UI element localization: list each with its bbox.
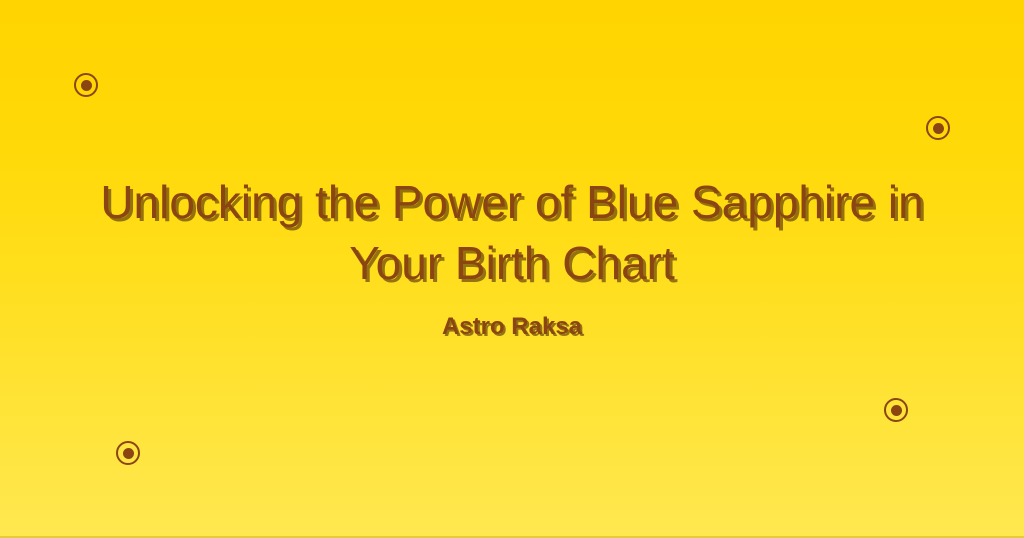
ring-dot-bottom-right-icon	[884, 398, 908, 422]
slide-title: Unlocking the Power of Blue Sapphire in …	[62, 172, 962, 294]
slide-subtitle: Astro Raksa	[62, 311, 962, 343]
title-slide: Unlocking the Power of Blue Sapphire in …	[0, 0, 1024, 538]
ring-dot-bottom-left-icon	[116, 441, 140, 465]
ring-dot-top-right-icon	[926, 116, 950, 140]
ring-dot-top-left-icon	[74, 73, 98, 97]
